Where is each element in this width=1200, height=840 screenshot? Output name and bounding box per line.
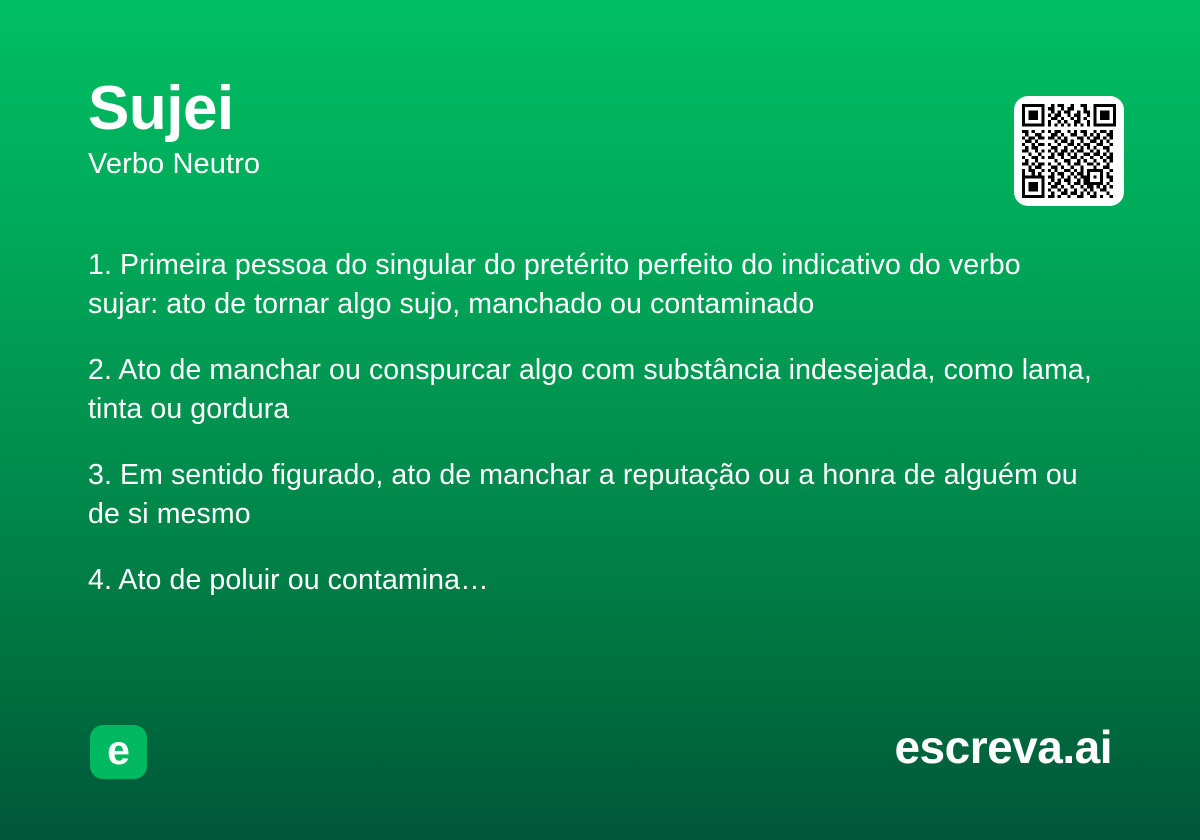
brand-wordmark: escreva.ai xyxy=(894,722,1112,773)
definition-item: 4. Ato de poluir ou contamina… xyxy=(88,561,1098,600)
qr-code[interactable] xyxy=(1014,96,1124,206)
definition-list: 1. Primeira pessoa do singular do pretér… xyxy=(88,246,1098,600)
page-title: Sujei xyxy=(88,78,968,140)
definition-item: 2. Ato de manchar ou conspurcar algo com… xyxy=(88,351,1098,429)
word-class-label: Verbo Neutro xyxy=(88,150,968,179)
definition-item: 1. Primeira pessoa do singular do pretér… xyxy=(88,246,1098,324)
definition-card: Sujei Verbo Neutro xyxy=(0,0,1200,840)
logo-letter: e xyxy=(107,730,130,771)
escreva-logo: e xyxy=(90,725,147,779)
card-header: Sujei Verbo Neutro xyxy=(88,78,968,179)
qr-code-icon xyxy=(1022,104,1116,198)
definition-item: 3. Em sentido figurado, ato de manchar a… xyxy=(88,456,1098,534)
